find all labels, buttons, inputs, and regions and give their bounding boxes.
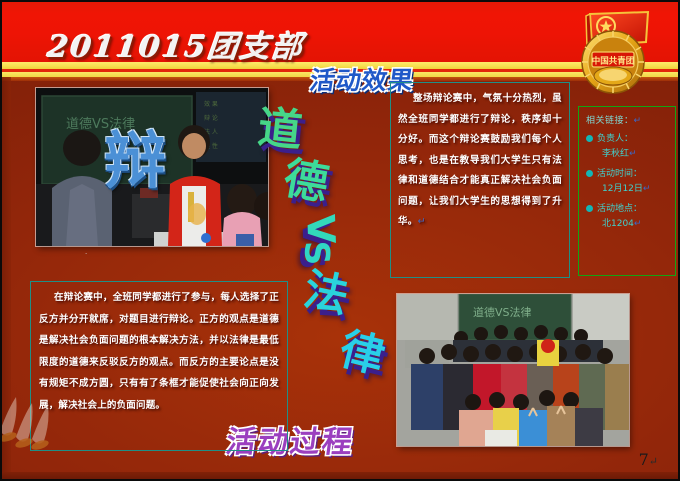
bullet-dot-icon xyxy=(586,170,593,177)
presentation-slide: 2011015团支部 xyxy=(0,0,680,481)
link-item-owner: 负责人： xyxy=(586,133,670,146)
bullet-dot-icon xyxy=(586,135,593,142)
page-number: 7↵ xyxy=(639,450,658,469)
page-title: 2011015团支部 xyxy=(46,22,307,66)
link-value-place-text: 北1204 xyxy=(602,219,634,229)
bullet-dot-icon xyxy=(586,205,593,212)
classroom-debate-photo[interactable]: 道德VS法律 效 果辩 论 法 人理 性 xyxy=(36,88,268,246)
link-value-time-text: 12月12日 xyxy=(602,184,643,194)
svg-text:道德VS法律: 道德VS法律 xyxy=(473,305,532,319)
activity-process-textbox: 在辩论赛中，全班同学都进行了参与，每人选择了正反方并分开就席，对题目进行辩论。正… xyxy=(30,281,288,451)
communist-youth-league-emblem: 中国共青团 xyxy=(556,4,664,100)
pilcrow-icon: ↵ xyxy=(629,149,637,159)
link-label-time: 活动时间： xyxy=(597,168,642,181)
link-label-place: 活动地点： xyxy=(597,203,642,216)
bottom-edge-shadow xyxy=(0,472,680,481)
activity-process-text: 在辩论赛中，全班同学都进行了参与，每人选择了正反方并分开就席，对题目进行辩论。正… xyxy=(31,282,287,416)
related-links-title-text: 相关链接： xyxy=(586,116,634,126)
svg-text:中国共青团: 中国共青团 xyxy=(592,56,635,67)
pilcrow-icon: ↵ xyxy=(418,216,426,227)
page-number-text: 7 xyxy=(639,450,649,469)
pilcrow-icon: ↵ xyxy=(634,219,642,229)
link-value-time: 12月12日↵ xyxy=(602,183,670,196)
svg-text:效 果: 效 果 xyxy=(204,100,218,108)
link-value-owner-text: 李秋红 xyxy=(602,149,629,159)
link-item-time: 活动时间： xyxy=(586,168,670,181)
link-value-place: 北1204↵ xyxy=(602,218,670,231)
related-links-title: 相关链接：↵ xyxy=(586,113,670,126)
link-value-owner: 李秋红↵ xyxy=(602,148,670,161)
pilcrow-icon: ↵ xyxy=(634,116,642,126)
activity-effect-text: 整场辩论赛中，气氛十分热烈，虽然全班同学都进行了辩论，秩序却十分好。而这个辩论赛… xyxy=(391,83,569,233)
svg-text:辩 论: 辩 论 xyxy=(204,114,218,122)
svg-text:道德VS法律: 道德VS法律 xyxy=(66,117,135,132)
related-links-panel: 相关链接：↵ 负责人： 李秋红↵ 活动时间： 12月12日↵ 活动地点： 北12… xyxy=(578,106,676,276)
stray-mark: . xyxy=(85,248,87,256)
link-label-owner: 负责人： xyxy=(597,133,633,146)
activity-effect-textbox: 整场辩论赛中，气氛十分热烈，虽然全班同学都进行了辩论，秩序却十分好。而这个辩论赛… xyxy=(390,82,570,278)
activity-process-body: 在辩论赛中，全班同学都进行了参与，每人选择了正反方并分开就席，对题目进行辩论。正… xyxy=(39,292,279,411)
pilcrow-icon: ↵ xyxy=(649,455,658,468)
class-group-photo[interactable]: 道德VS法律 xyxy=(397,294,629,446)
activity-effect-body: 整场辩论赛中，气氛十分热烈，虽然全班同学都进行了辩论，秩序却十分好。而这个辩论赛… xyxy=(398,93,562,227)
pilcrow-icon: ↵ xyxy=(643,184,651,194)
link-item-place: 活动地点： xyxy=(586,203,670,216)
left-edge-shadow xyxy=(0,77,11,481)
